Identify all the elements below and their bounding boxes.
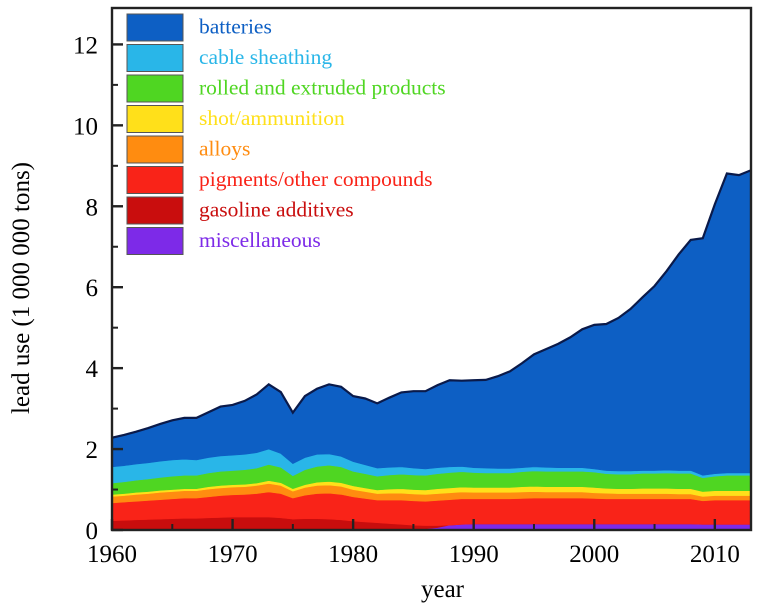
legend-swatch-rolled-and-extruded-products — [127, 75, 183, 102]
legend-label-cable-sheathing: cable sheathing — [199, 45, 332, 69]
legend-swatch-gasoline-additives — [127, 197, 183, 224]
y-tick-label: 10 — [73, 113, 98, 140]
x-tick-label: 1990 — [449, 541, 499, 568]
legend-swatch-shot-ammunition — [127, 106, 183, 133]
chart-canvas: 024681012196019701980199020002010 batter… — [0, 0, 770, 613]
legend-label-gasoline-additives: gasoline additives — [199, 197, 354, 221]
legend-label-rolled-and-extruded-products: rolled and extruded products — [199, 75, 446, 99]
legend-swatch-alloys — [127, 136, 183, 163]
legend-label-shot-ammunition: shot/ammunition — [199, 106, 345, 130]
x-tick-label: 1970 — [208, 541, 258, 568]
x-tick-label: 1980 — [328, 541, 378, 568]
legend-label-miscellaneous: miscellaneous — [199, 228, 321, 252]
x-tick-label: 1960 — [87, 541, 137, 568]
legend-swatch-miscellaneous — [127, 228, 183, 255]
x-tick-label: 2000 — [569, 541, 619, 568]
x-axis-title: year — [306, 576, 464, 604]
legend-label-batteries: batteries — [199, 14, 272, 38]
y-tick-label: 4 — [86, 356, 99, 383]
y-tick-label: 12 — [73, 32, 98, 59]
legend-label-pigments-other-compounds: pigments/other compounds — [199, 167, 433, 191]
legend-swatch-pigments-other-compounds — [127, 167, 183, 194]
y-tick-label: 6 — [86, 275, 99, 302]
x-axis-title-wrap: year — [0, 576, 770, 604]
lead-use-stacked-area-chart: 024681012196019701980199020002010 batter… — [0, 0, 770, 613]
legend-label-alloys: alloys — [199, 136, 250, 160]
stacked-areas-group — [112, 170, 751, 530]
y-tick-label: 8 — [86, 194, 99, 221]
legend-swatch-cable-sheathing — [127, 45, 183, 72]
chart-legend: batteriescable sheathingrolled and extru… — [127, 14, 446, 255]
legend-swatch-batteries — [127, 14, 183, 41]
y-tick-label: 2 — [86, 437, 99, 464]
x-tick-label: 2010 — [690, 541, 740, 568]
